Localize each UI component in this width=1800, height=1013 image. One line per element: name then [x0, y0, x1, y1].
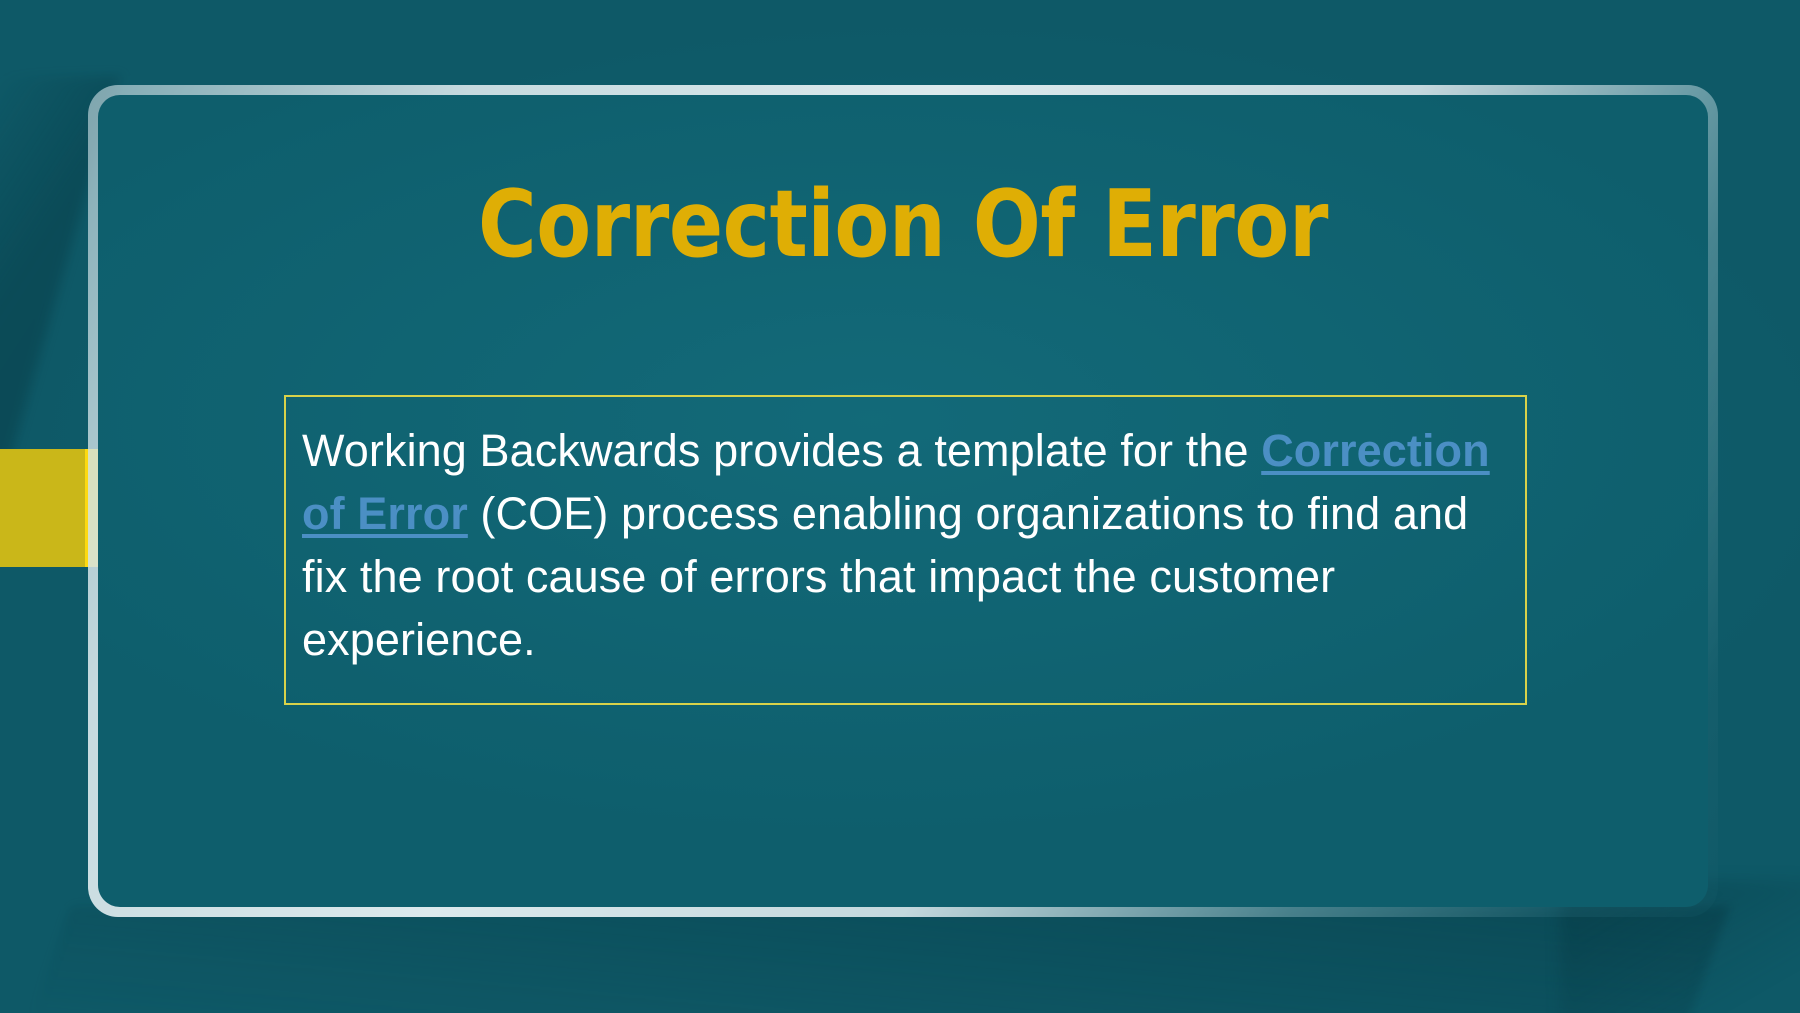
content-card: Correction Of Error Working Backwards pr… — [88, 85, 1718, 917]
body-paragraph: Working Backwards provides a template fo… — [302, 419, 1509, 671]
body-lead-text: Working Backwards provides a template fo… — [302, 425, 1261, 476]
page-title: Correction Of Error — [211, 177, 1596, 272]
slide-root: Correction Of Error Working Backwards pr… — [0, 0, 1800, 1013]
content-card-inner: Correction Of Error Working Backwards pr… — [98, 95, 1708, 907]
card-shadow-bottom — [26, 906, 1730, 1013]
body-text-box: Working Backwards provides a template fo… — [284, 395, 1527, 705]
body-tail-text: (COE) process enabling organizations to … — [302, 488, 1468, 665]
